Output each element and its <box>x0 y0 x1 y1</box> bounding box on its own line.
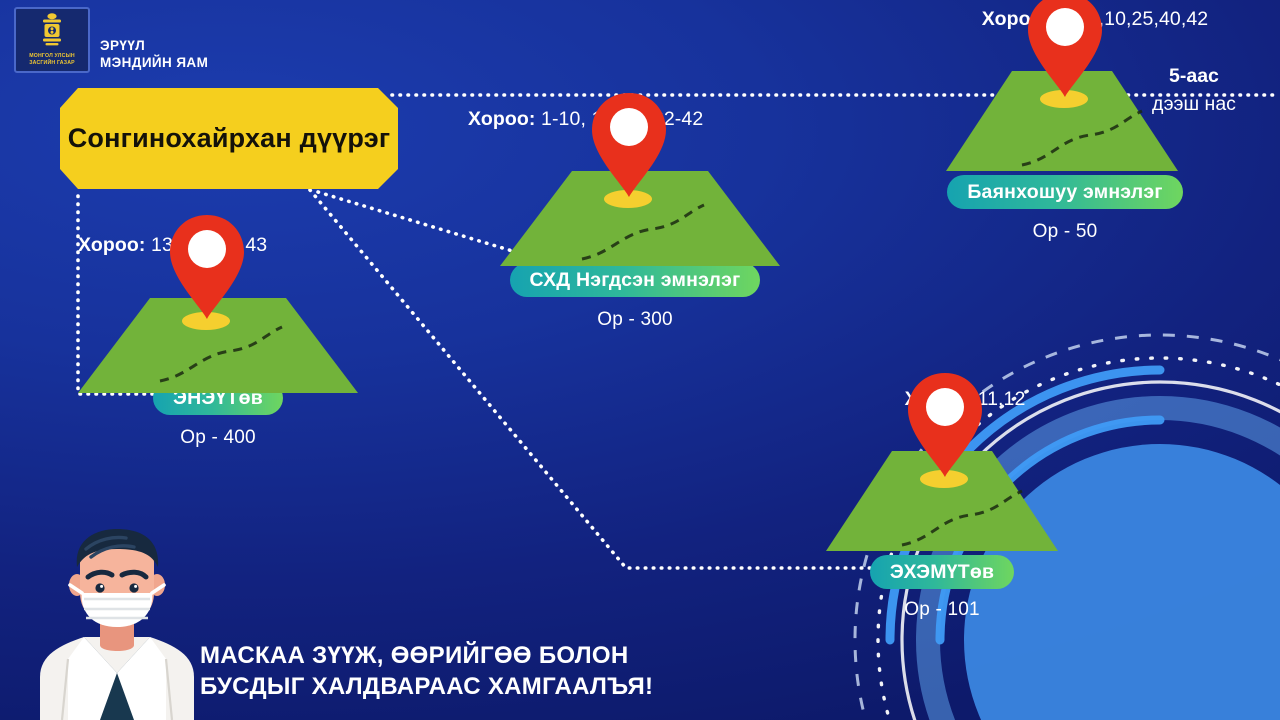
platform-eneutuv <box>78 263 358 393</box>
node-ekhemutuv[interactable]: Хороо: 11,12 ЭХЭМҮТөв Ор - 101 <box>800 388 1130 621</box>
age-note: 5-аас дээш нас <box>1152 62 1236 118</box>
soyombo-emblem-icon <box>39 12 65 52</box>
map-pin-icon-bayankhoshuu <box>1024 0 1106 106</box>
platform-ekhemutuv <box>800 433 1130 563</box>
beds-skhd: Ор - 300 <box>440 309 830 331</box>
infographic-canvas: МОНГОЛ УЛСЫН ЗАСГИЙН ГАЗАР ЭРҮҮЛ МЭНДИЙН… <box>0 0 1280 720</box>
ministry-line-1: ЭРҮҮЛ <box>100 37 208 54</box>
khoroo-label: Хороо: <box>78 234 146 256</box>
khoroo-label: Хороо: <box>468 108 536 130</box>
node-bayankhoshuu[interactable]: Хороо: 7,8,9,10,25,40,42 Баянхошуу эмнэл… <box>930 8 1260 243</box>
district-callout: Сонгинохайрхан дүүрэг <box>60 88 398 189</box>
map-pin-icon-eneutuv <box>166 211 248 328</box>
district-title: Сонгинохайрхан дүүрэг <box>68 122 391 155</box>
node-eneutuv[interactable]: Хороо: 13-17, 31, 43 ЭНЭҮТөв Ор - 400 <box>78 234 358 449</box>
ministry-name: ЭРҮҮЛ МЭНДИЙН ЯАМ <box>100 37 208 71</box>
beds-bayankhoshuu: Ор - 50 <box>930 221 1200 243</box>
age-note-line-1: 5-аас <box>1152 62 1236 90</box>
beds-eneutuv: Ор - 400 <box>78 427 358 449</box>
platform-skhd <box>440 139 830 271</box>
age-note-value: 5-аас <box>1169 65 1219 87</box>
node-skhd[interactable]: Хороо: 1-10, 18-30, 32-42 СХД Нэгдсэн эм… <box>440 108 830 331</box>
map-pin-icon-ekhemutuv <box>904 369 986 486</box>
beds-ekhemutuv: Ор - 101 <box>800 599 1084 621</box>
logo-caption: МОНГОЛ УЛСЫН ЗАСГИЙН ГАЗАР <box>29 53 75 67</box>
safety-slogan: МАСКАА ЗҮҮЖ, ӨӨРИЙГӨӨ БОЛОН БУСДЫГ ХАЛДВ… <box>200 640 653 702</box>
map-pin-icon-skhd <box>588 89 670 206</box>
age-note-line-2: дээш нас <box>1152 90 1236 118</box>
ministry-line-2: МЭНДИЙН ЯАМ <box>100 54 208 71</box>
government-logo: МОНГОЛ УЛСЫН ЗАСГИЙН ГАЗАР <box>14 7 90 73</box>
masked-doctor-illustration-icon <box>22 527 212 720</box>
